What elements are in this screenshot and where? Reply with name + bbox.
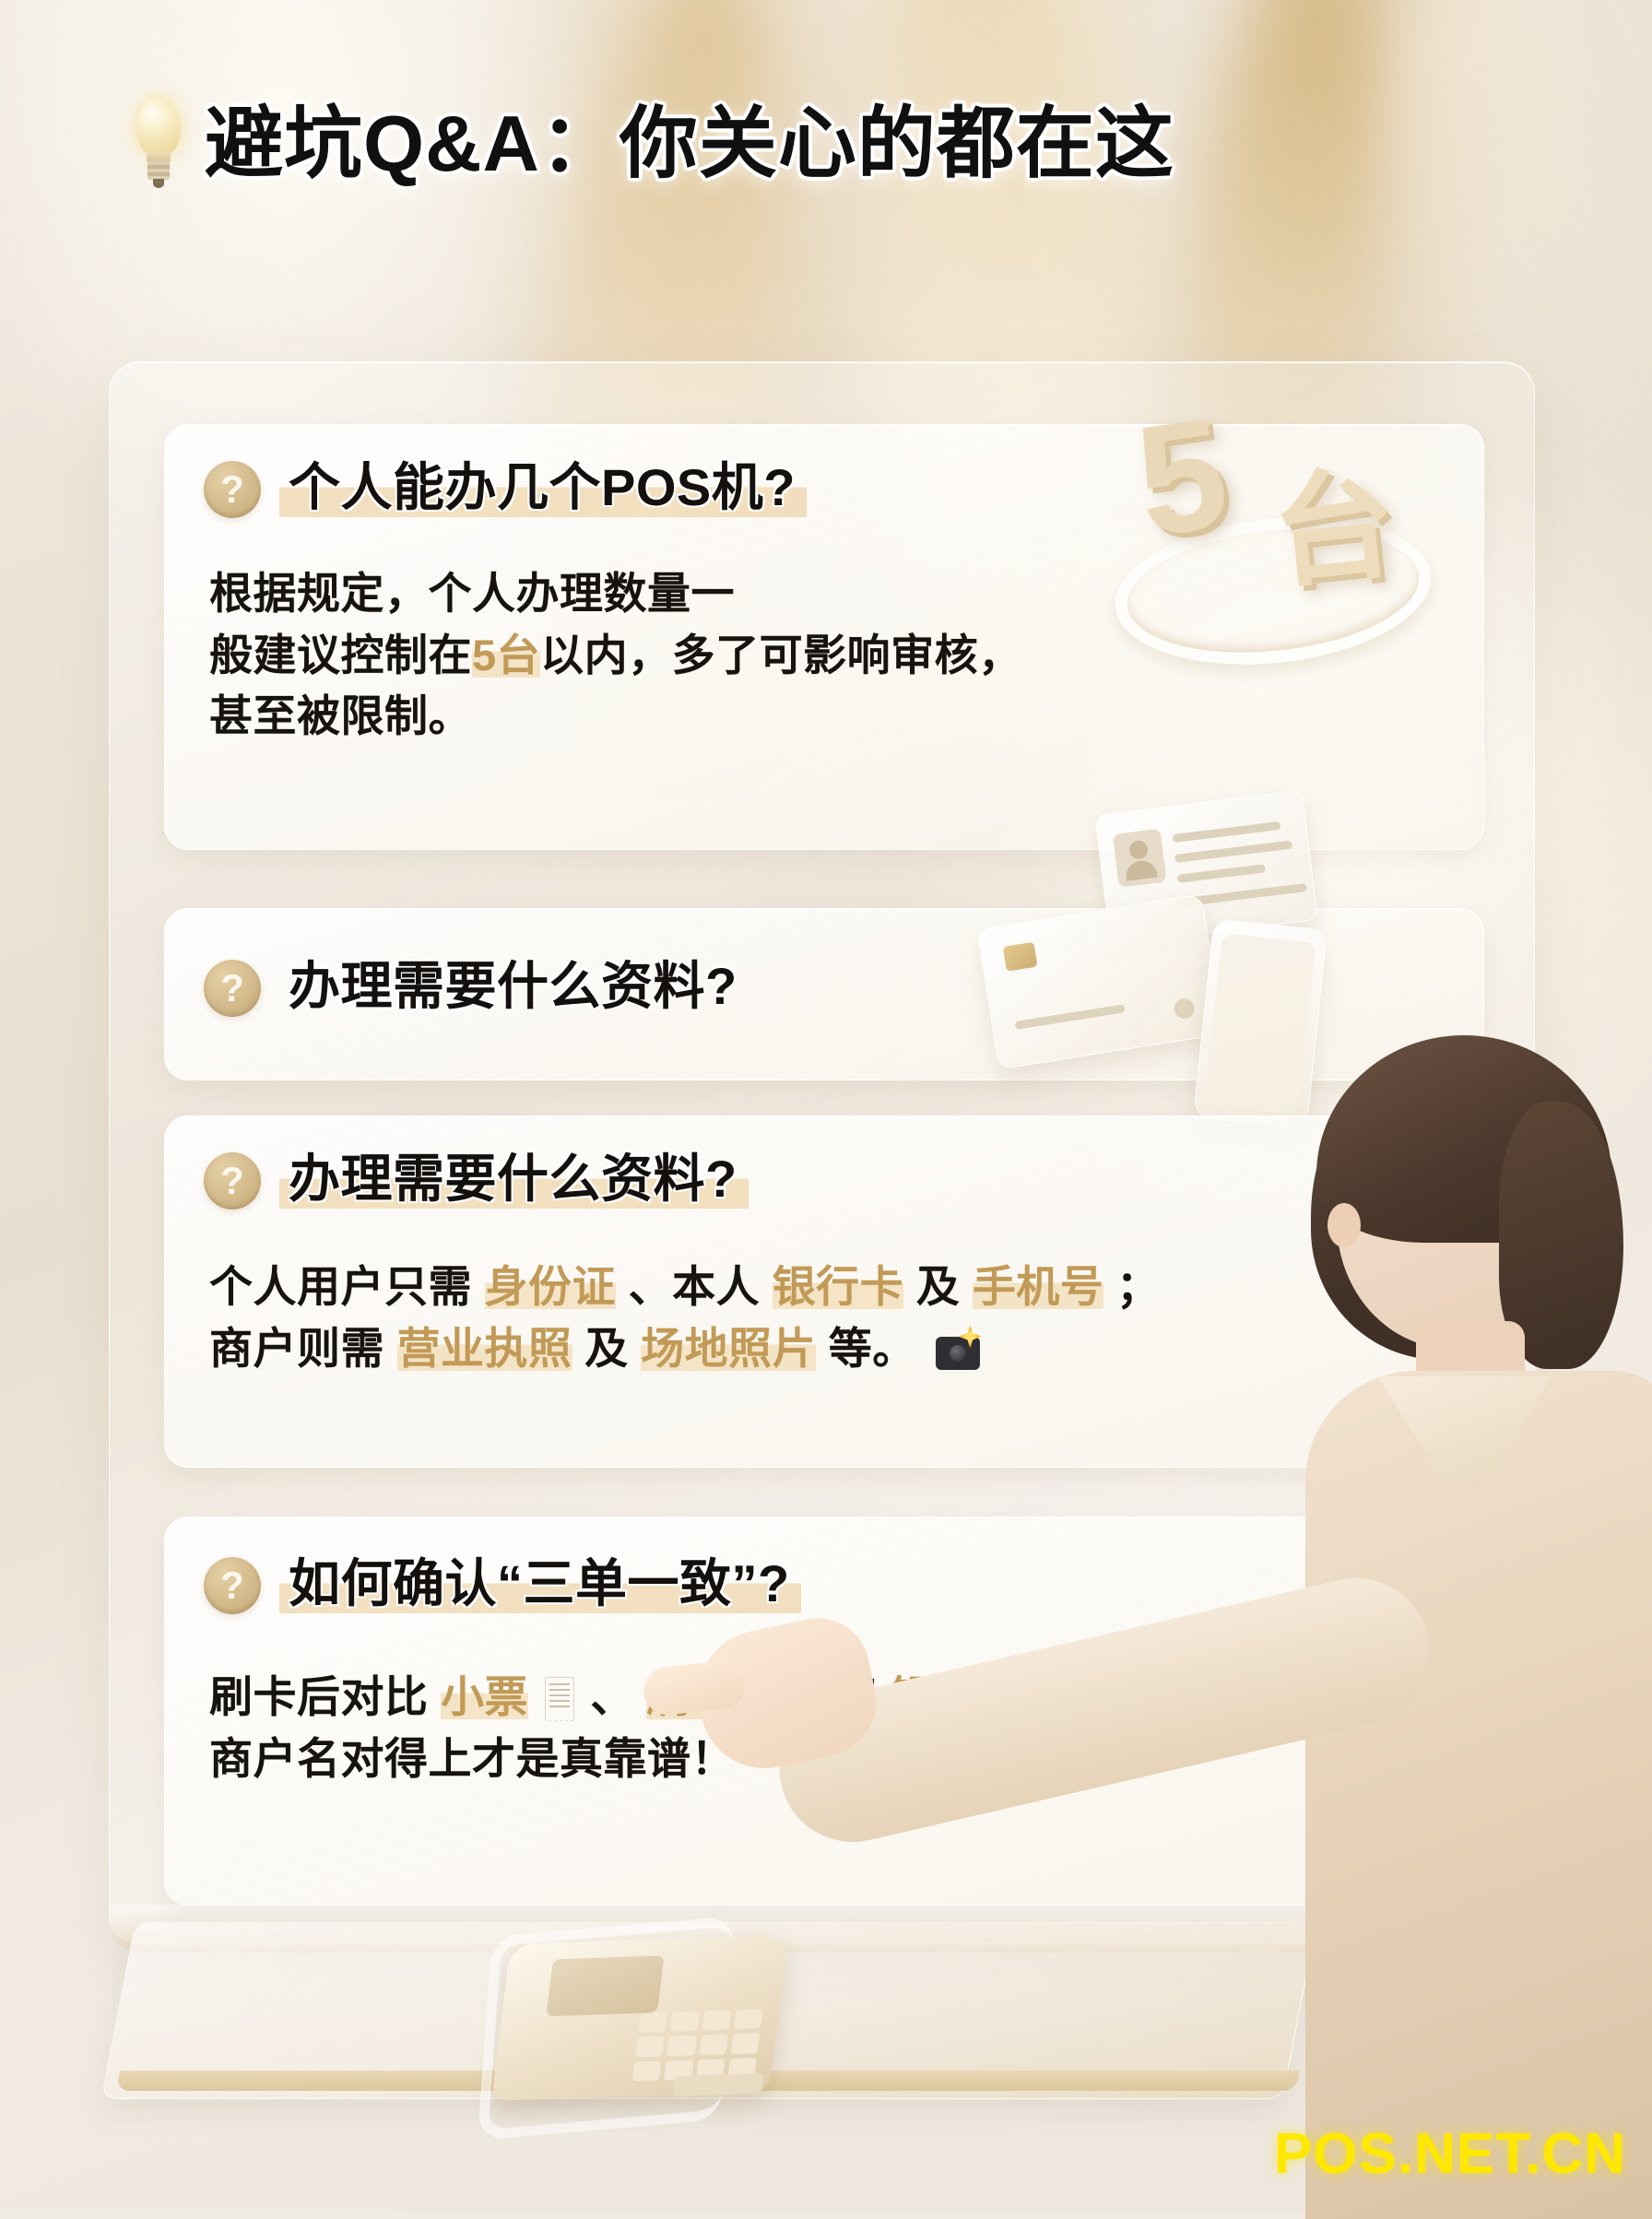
torso bbox=[1305, 1371, 1652, 2219]
highlight-yinhangka: 银行卡 bbox=[773, 1262, 904, 1311]
highlight-yingyezhizhao: 营业执照 bbox=[397, 1324, 572, 1373]
question-title: 个人能办几个POS机? bbox=[279, 458, 807, 521]
highlight-changdizhaopian: 场地照片 bbox=[641, 1324, 816, 1373]
question-title: 办理需要什么资料? bbox=[279, 1150, 749, 1212]
answer-text: 根据规定，个人办理数量一 般建议控制在5台以内，多了可影响审核， 甚至被限制。 bbox=[209, 563, 1022, 748]
question-row: ? 办理需要什么资料? bbox=[204, 957, 749, 1020]
highlight-shoujihao: 手机号 bbox=[973, 1262, 1104, 1311]
number-five-3d: 5 bbox=[1127, 382, 1238, 572]
highlight-5tai: 5台 bbox=[472, 631, 540, 679]
question-title: 如何确认“三单一致”? bbox=[279, 1554, 801, 1617]
receipt-icon bbox=[545, 1677, 574, 1721]
five-units-3d-graphic: 5 台 bbox=[1102, 383, 1443, 659]
answer-text: 个人用户只需 身份证 、本人 银行卡 及 手机号 ； 商户则需 营业执照 及 场… bbox=[209, 1257, 1160, 1379]
pos-terminal-3d bbox=[490, 1907, 829, 2117]
question-mark-icon: ? bbox=[204, 960, 261, 1017]
camera-icon bbox=[936, 1337, 980, 1370]
question-row: ? 办理需要什么资料? bbox=[204, 1150, 749, 1212]
terminal-glass-rim bbox=[478, 1916, 735, 2141]
question-row: ? 个人能办几个POS机? bbox=[204, 458, 807, 521]
question-title: 办理需要什么资料? bbox=[279, 957, 749, 1020]
question-mark-icon: ? bbox=[204, 1557, 261, 1614]
question-mark-icon: ? bbox=[204, 1152, 261, 1210]
watermark: POS.NET.CN bbox=[1274, 2121, 1626, 2187]
question-row: ? 如何确认“三单一致”? bbox=[204, 1554, 801, 1617]
unit-tai-3d: 台 bbox=[1263, 425, 1402, 613]
highlight-shenfenzheng: 身份证 bbox=[485, 1262, 617, 1311]
woman-3d-figure bbox=[1289, 1028, 1652, 2213]
question-mark-icon: ? bbox=[204, 461, 261, 518]
page-title-row: 避坑Q&A：你关心的都在这 bbox=[129, 96, 1174, 192]
bank-card-icon bbox=[976, 894, 1223, 1070]
lightbulb-icon bbox=[129, 96, 188, 192]
qa-card[interactable]: ? 办理需要什么资料? 个人用户只需 身份证 、本人 银行卡 及 手机号 ； 商… bbox=[164, 1115, 1484, 1468]
highlight-xiaopiao: 小票 bbox=[441, 1672, 528, 1721]
page-title: 避坑Q&A：你关心的都在这 bbox=[205, 105, 1174, 183]
ear bbox=[1327, 1203, 1361, 1247]
